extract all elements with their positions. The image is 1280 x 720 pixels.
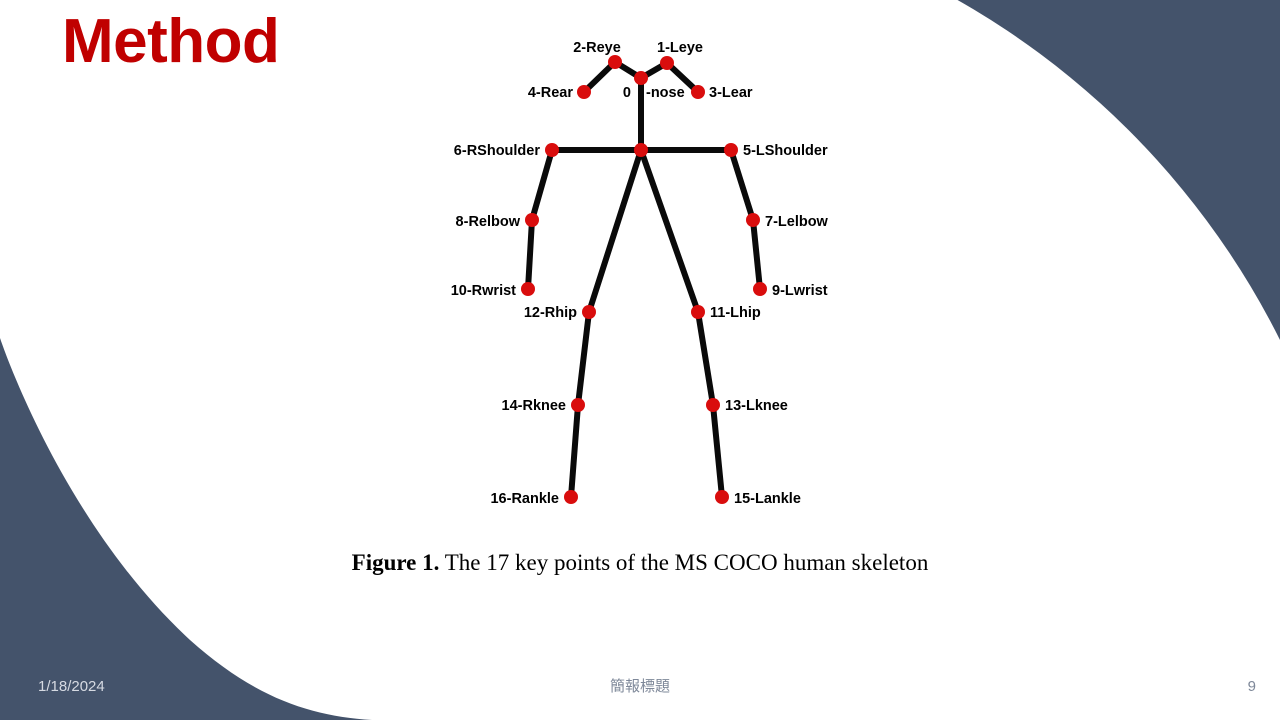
keypoint-label-5: 5-LShoulder bbox=[743, 143, 828, 159]
keypoint-label-10: 10-Rwrist bbox=[451, 283, 516, 299]
skeleton-bone bbox=[698, 312, 713, 405]
keypoint-label-4: 4-Rear bbox=[528, 85, 573, 101]
skeleton-bone bbox=[571, 405, 578, 497]
skeleton-joint-2 bbox=[608, 55, 622, 69]
figure-caption-label: Figure 1. bbox=[352, 550, 440, 575]
skeleton-joint-8 bbox=[525, 213, 539, 227]
skeleton-joint-11 bbox=[691, 305, 705, 319]
slide-canvas: Method 0-nose1-Leye2-Reye3-Lear4-Rear5-L… bbox=[0, 0, 1280, 720]
skeleton-figure: 0-nose1-Leye2-Reye3-Lear4-Rear5-LShoulde… bbox=[0, 0, 1280, 540]
keypoint-label-13: 13-Lknee bbox=[725, 398, 788, 414]
keypoint-label-16: 16-Rankle bbox=[490, 491, 559, 507]
skeleton-joint-9 bbox=[753, 282, 767, 296]
skeleton-joint-13 bbox=[706, 398, 720, 412]
skeleton-bone bbox=[713, 405, 722, 497]
skeleton-joint-14 bbox=[571, 398, 585, 412]
skeleton-joint-0 bbox=[634, 71, 648, 85]
skeleton-joint-4 bbox=[577, 85, 591, 99]
skeleton-joint-3 bbox=[691, 85, 705, 99]
skeleton-bone bbox=[731, 150, 753, 220]
keypoint-label-9: 9-Lwrist bbox=[772, 283, 828, 299]
keypoint-label-7: 7-Lelbow bbox=[765, 214, 829, 230]
keypoint-label-6: 6-RShoulder bbox=[454, 143, 541, 159]
keypoint-label-14: 14-Rknee bbox=[502, 398, 566, 414]
figure-caption: Figure 1. The 17 key points of the MS CO… bbox=[0, 550, 1280, 576]
skeleton-bone bbox=[753, 220, 760, 289]
keypoint-label-1: 1-Leye bbox=[657, 40, 703, 56]
skeleton-diagram: 0-nose1-Leye2-Reye3-Lear4-Rear5-LShoulde… bbox=[0, 0, 1280, 540]
keypoint-label-2: 2-Reye bbox=[573, 40, 621, 56]
keypoint-label-0-suffix: -nose bbox=[646, 85, 685, 101]
skeleton-joint-6 bbox=[545, 143, 559, 157]
skeleton-bone bbox=[641, 150, 698, 312]
keypoint-label-0: 0 bbox=[623, 85, 631, 101]
footer-page-number: 9 bbox=[0, 679, 1256, 694]
skeleton-joint-16 bbox=[564, 490, 578, 504]
skeleton-joint-15 bbox=[715, 490, 729, 504]
skeleton-bone bbox=[528, 220, 532, 289]
skeleton-joint-10 bbox=[521, 282, 535, 296]
skeleton-joint-5 bbox=[724, 143, 738, 157]
keypoint-label-12: 12-Rhip bbox=[524, 305, 577, 321]
keypoint-label-8: 8-Relbow bbox=[456, 214, 521, 230]
skeleton-bone bbox=[589, 150, 641, 312]
keypoint-label-11: 11-Lhip bbox=[710, 305, 761, 321]
skeleton-joint-1 bbox=[660, 56, 674, 70]
figure-caption-text: The 17 key points of the MS COCO human s… bbox=[439, 550, 928, 575]
skeleton-bones bbox=[528, 62, 760, 497]
skeleton-joint-neck bbox=[634, 143, 648, 157]
keypoint-label-15: 15-Lankle bbox=[734, 491, 801, 507]
skeleton-joint-12 bbox=[582, 305, 596, 319]
keypoint-label-3: 3-Lear bbox=[709, 85, 753, 101]
skeleton-bone bbox=[578, 312, 589, 405]
skeleton-joint-7 bbox=[746, 213, 760, 227]
skeleton-bone bbox=[532, 150, 552, 220]
